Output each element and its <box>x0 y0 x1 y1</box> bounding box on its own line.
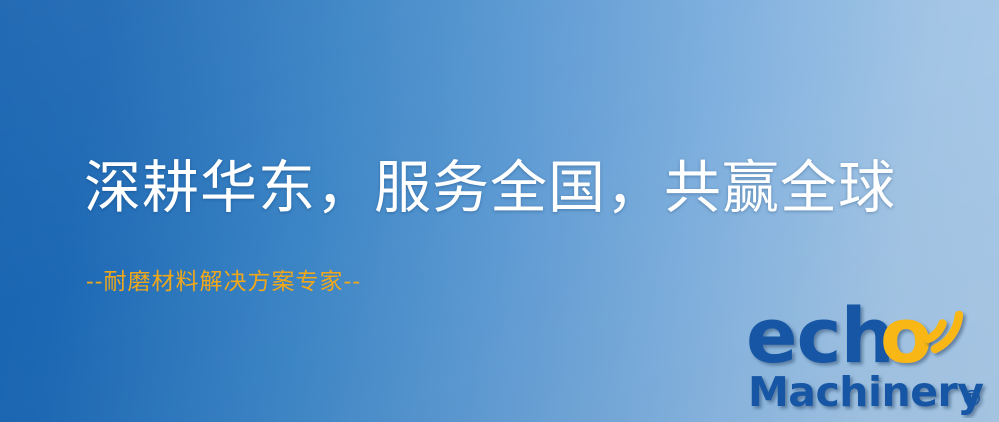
promo-banner: 深耕华东，服务全国，共赢全球 --耐磨材料解决方案专家-- ech o <box>0 0 999 422</box>
banner-subheadline: --耐磨材料解决方案专家-- <box>86 268 361 296</box>
logo-tagline-group: Machinery ® <box>748 368 983 416</box>
registered-trademark-icon: ® <box>961 387 983 412</box>
logo-tagline: Machinery <box>748 368 983 416</box>
echo-machinery-logo: ech o Machinery ® <box>746 296 996 418</box>
wifi-signal-arcs-icon <box>928 315 959 349</box>
banner-headline: 深耕华东，服务全国，共赢全球 <box>84 152 896 224</box>
